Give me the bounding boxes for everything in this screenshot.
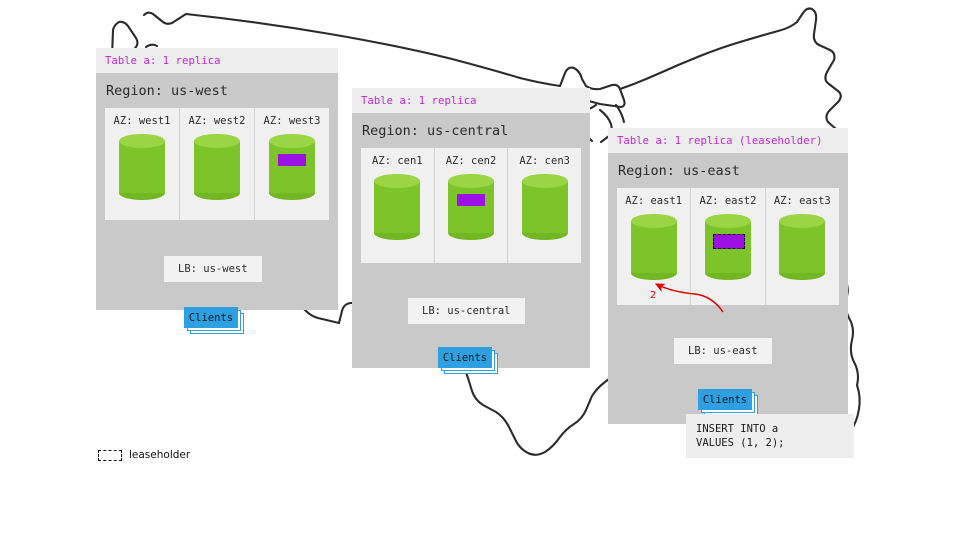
az-label: AZ: east3 [774, 195, 831, 207]
region-panel-us-central: Table a: 1 replica Region: us-central AZ… [352, 88, 590, 368]
az-label: AZ: cen3 [519, 155, 570, 167]
az-cell-east1[interactable]: AZ: east1 [617, 188, 690, 305]
legend-label: leaseholder [129, 449, 190, 461]
database-cylinder-icon [448, 174, 494, 240]
load-balancer-box[interactable]: LB: us-central [408, 298, 525, 324]
load-balancer-box[interactable]: LB: us-west [164, 256, 262, 282]
cylinder-body [119, 141, 165, 193]
az-label: AZ: east1 [625, 195, 682, 207]
database-cylinder-icon [631, 214, 677, 280]
clients-button-label: Clients [438, 347, 492, 368]
database-cylinder-icon [194, 134, 240, 200]
database-cylinder-icon [779, 214, 825, 280]
cylinder-body [779, 221, 825, 273]
cylinder-top [269, 134, 315, 148]
cylinder-body [269, 141, 315, 193]
region-title: Region: us-east [617, 153, 839, 188]
clients-button[interactable]: Clients [184, 307, 240, 330]
clients-button[interactable]: Clients [698, 389, 754, 412]
sql-statement-note: INSERT INTO a VALUES (1, 2); [686, 414, 854, 458]
region-panel-us-west: Table a: 1 replica Region: us-west AZ: w… [96, 48, 338, 310]
cylinder-top [522, 174, 568, 188]
az-cell-east2[interactable]: AZ: east2 [690, 188, 764, 305]
az-cell-cen3[interactable]: AZ: cen3 [507, 148, 581, 263]
region-header-label: Table a: 1 replica (leaseholder) [608, 128, 848, 153]
az-row: AZ: west1 AZ: west2 AZ [105, 108, 329, 220]
database-cylinder-icon [119, 134, 165, 200]
az-cell-east3[interactable]: AZ: east3 [765, 188, 839, 305]
clients-button-label: Clients [698, 389, 752, 410]
replica-chip [457, 194, 485, 206]
cylinder-body [631, 221, 677, 273]
flow-step-number: 2 [650, 290, 656, 301]
region-header-label: Table a: 1 replica [96, 48, 338, 73]
az-cell-west2[interactable]: AZ: west2 [179, 108, 254, 220]
region-header-label: Table a: 1 replica [352, 88, 590, 113]
cylinder-top [705, 214, 751, 228]
database-cylinder-icon [705, 214, 751, 280]
database-cylinder-icon [522, 174, 568, 240]
cylinder-top [448, 174, 494, 188]
az-row: AZ: east1 AZ: east2 [617, 188, 839, 305]
cylinder-top [631, 214, 677, 228]
az-row: AZ: cen1 AZ: cen2 [361, 148, 581, 263]
cylinder-top [374, 174, 420, 188]
az-label: AZ: east2 [700, 195, 757, 207]
region-panel-us-east: Table a: 1 replica (leaseholder) Region:… [608, 128, 848, 424]
leaseholder-replica-chip [713, 234, 745, 249]
cylinder-top [194, 134, 240, 148]
legend: leaseholder [98, 449, 190, 461]
load-balancer-box[interactable]: LB: us-east [674, 338, 772, 364]
clients-button-label: Clients [184, 307, 238, 328]
region-body: Region: us-west AZ: west1 AZ: west2 [96, 73, 338, 310]
az-label: AZ: cen2 [446, 155, 497, 167]
database-cylinder-icon [374, 174, 420, 240]
cylinder-top [779, 214, 825, 228]
replica-chip [278, 154, 306, 166]
cylinder-body [448, 181, 494, 233]
cylinder-top [119, 134, 165, 148]
az-cell-west1[interactable]: AZ: west1 [105, 108, 179, 220]
database-cylinder-icon [269, 134, 315, 200]
az-label: AZ: cen1 [372, 155, 423, 167]
clients-button[interactable]: Clients [438, 347, 494, 370]
az-cell-cen1[interactable]: AZ: cen1 [361, 148, 434, 263]
az-label: AZ: west2 [189, 115, 246, 127]
az-cell-cen2[interactable]: AZ: cen2 [434, 148, 508, 263]
diagram-canvas: Table a: 1 replica Region: us-west AZ: w… [0, 0, 960, 540]
cylinder-body [194, 141, 240, 193]
region-body: Region: us-central AZ: cen1 AZ: cen2 [352, 113, 590, 368]
dashed-rect-icon [98, 450, 122, 461]
region-title: Region: us-central [361, 113, 581, 148]
region-title: Region: us-west [105, 73, 329, 108]
az-cell-west3[interactable]: AZ: west3 [254, 108, 329, 220]
cylinder-body [374, 181, 420, 233]
cylinder-body [522, 181, 568, 233]
region-body: Region: us-east AZ: east1 AZ: east2 [608, 153, 848, 424]
az-label: AZ: west1 [114, 115, 171, 127]
az-label: AZ: west3 [264, 115, 321, 127]
